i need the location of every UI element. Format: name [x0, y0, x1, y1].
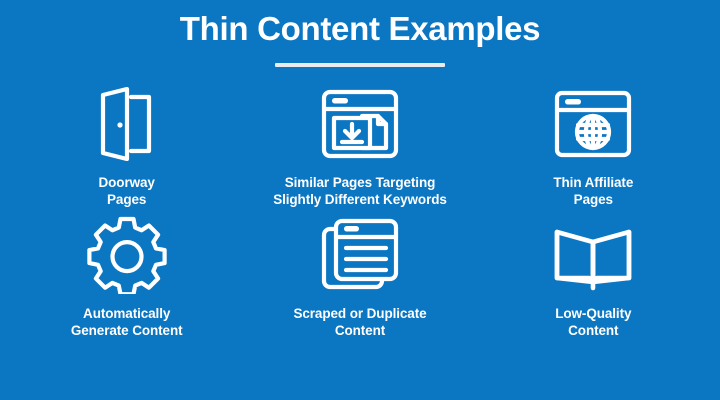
- grid-item-scraped-or-duplicate-content: Scraped or Duplicate Content: [243, 214, 476, 339]
- browser-download-document-icon: [318, 83, 402, 165]
- grid-item-doorway-pages: Doorway Pages: [10, 83, 243, 208]
- grid-item-label: Similar Pages Targeting Slightly Differe…: [273, 174, 447, 208]
- open-door-icon: [91, 83, 163, 165]
- grid-item-low-quality-content: Low-Quality Content: [477, 214, 710, 339]
- grid-item-label: Thin Affiliate Pages: [553, 174, 633, 208]
- header: Thin Content Examples: [0, 0, 720, 67]
- stacked-browser-windows-icon: [319, 214, 401, 296]
- open-book-icon: [551, 214, 635, 296]
- grid-item-label: Scraped or Duplicate Content: [293, 305, 426, 339]
- grid-item-automatically-generate-content: Automatically Generate Content: [10, 214, 243, 339]
- items-grid: Doorway Pages: [10, 83, 710, 339]
- grid-item-label: Low-Quality Content: [555, 305, 631, 339]
- page-title: Thin Content Examples: [0, 9, 720, 49]
- title-divider: [275, 63, 445, 67]
- grid-item-label: Doorway Pages: [99, 174, 155, 208]
- grid-item-label: Automatically Generate Content: [71, 305, 183, 339]
- grid-item-thin-affiliate-pages: Thin Affiliate Pages: [477, 83, 710, 208]
- gear-icon: [87, 214, 167, 296]
- thin-content-infographic: Thin Content Examples Doorway Pages: [0, 0, 720, 400]
- browser-globe-icon: [552, 83, 634, 165]
- grid-item-similar-pages: Similar Pages Targeting Slightly Differe…: [243, 83, 476, 208]
